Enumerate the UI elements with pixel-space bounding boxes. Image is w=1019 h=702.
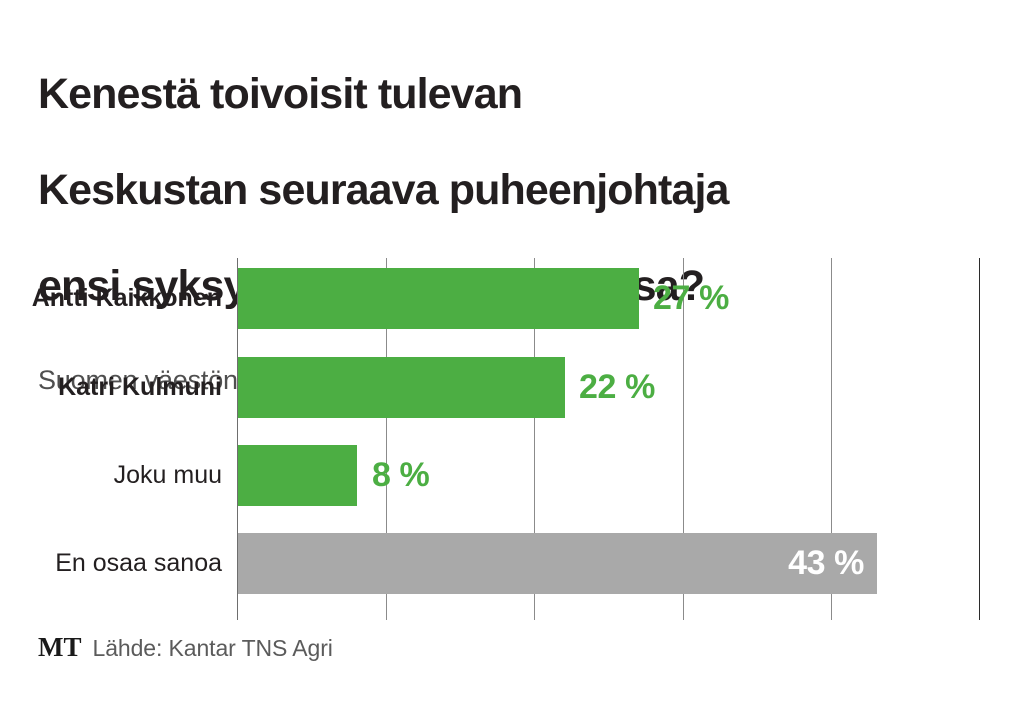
bar-row-katri-kulmuni: 22 %: [238, 357, 980, 418]
infographic-chart-page: Kenestä toivoisit tulevan Keskustan seur…: [0, 0, 1019, 702]
category-label-katri-kulmuni: Katri Kulmuni: [0, 357, 222, 418]
category-label-antti-kaikkonen: Antti Kaikkonen: [0, 268, 222, 329]
bar-row-joku-muu: 8 %: [238, 445, 980, 506]
bar-chart: Antti Kaikkonen 27 % Katri Kulmuni 22 % …: [0, 0, 1019, 702]
bar-value-katri-kulmuni: 22 %: [579, 357, 655, 418]
bar-value-en-osaa-sanoa: 43 %: [786, 533, 864, 594]
bar-row-en-osaa-sanoa: 43 %: [238, 533, 980, 594]
mt-logo: MT: [38, 632, 82, 663]
bar-value-joku-muu: 8 %: [372, 445, 429, 506]
bar-en-osaa-sanoa: [238, 533, 877, 594]
bar-joku-muu: [238, 445, 357, 506]
category-label-en-osaa-sanoa: En osaa sanoa: [0, 533, 222, 594]
bar-row-antti-kaikkonen: 27 %: [238, 268, 980, 329]
bar-katri-kulmuni: [238, 357, 565, 418]
source-label: Lähde: Kantar TNS Agri: [93, 635, 333, 662]
bar-value-antti-kaikkonen: 27 %: [653, 268, 729, 329]
bar-antti-kaikkonen: [238, 268, 639, 329]
category-label-joku-muu: Joku muu: [0, 445, 222, 506]
chart-footer: MT Lähde: Kantar TNS Agri: [38, 632, 333, 663]
